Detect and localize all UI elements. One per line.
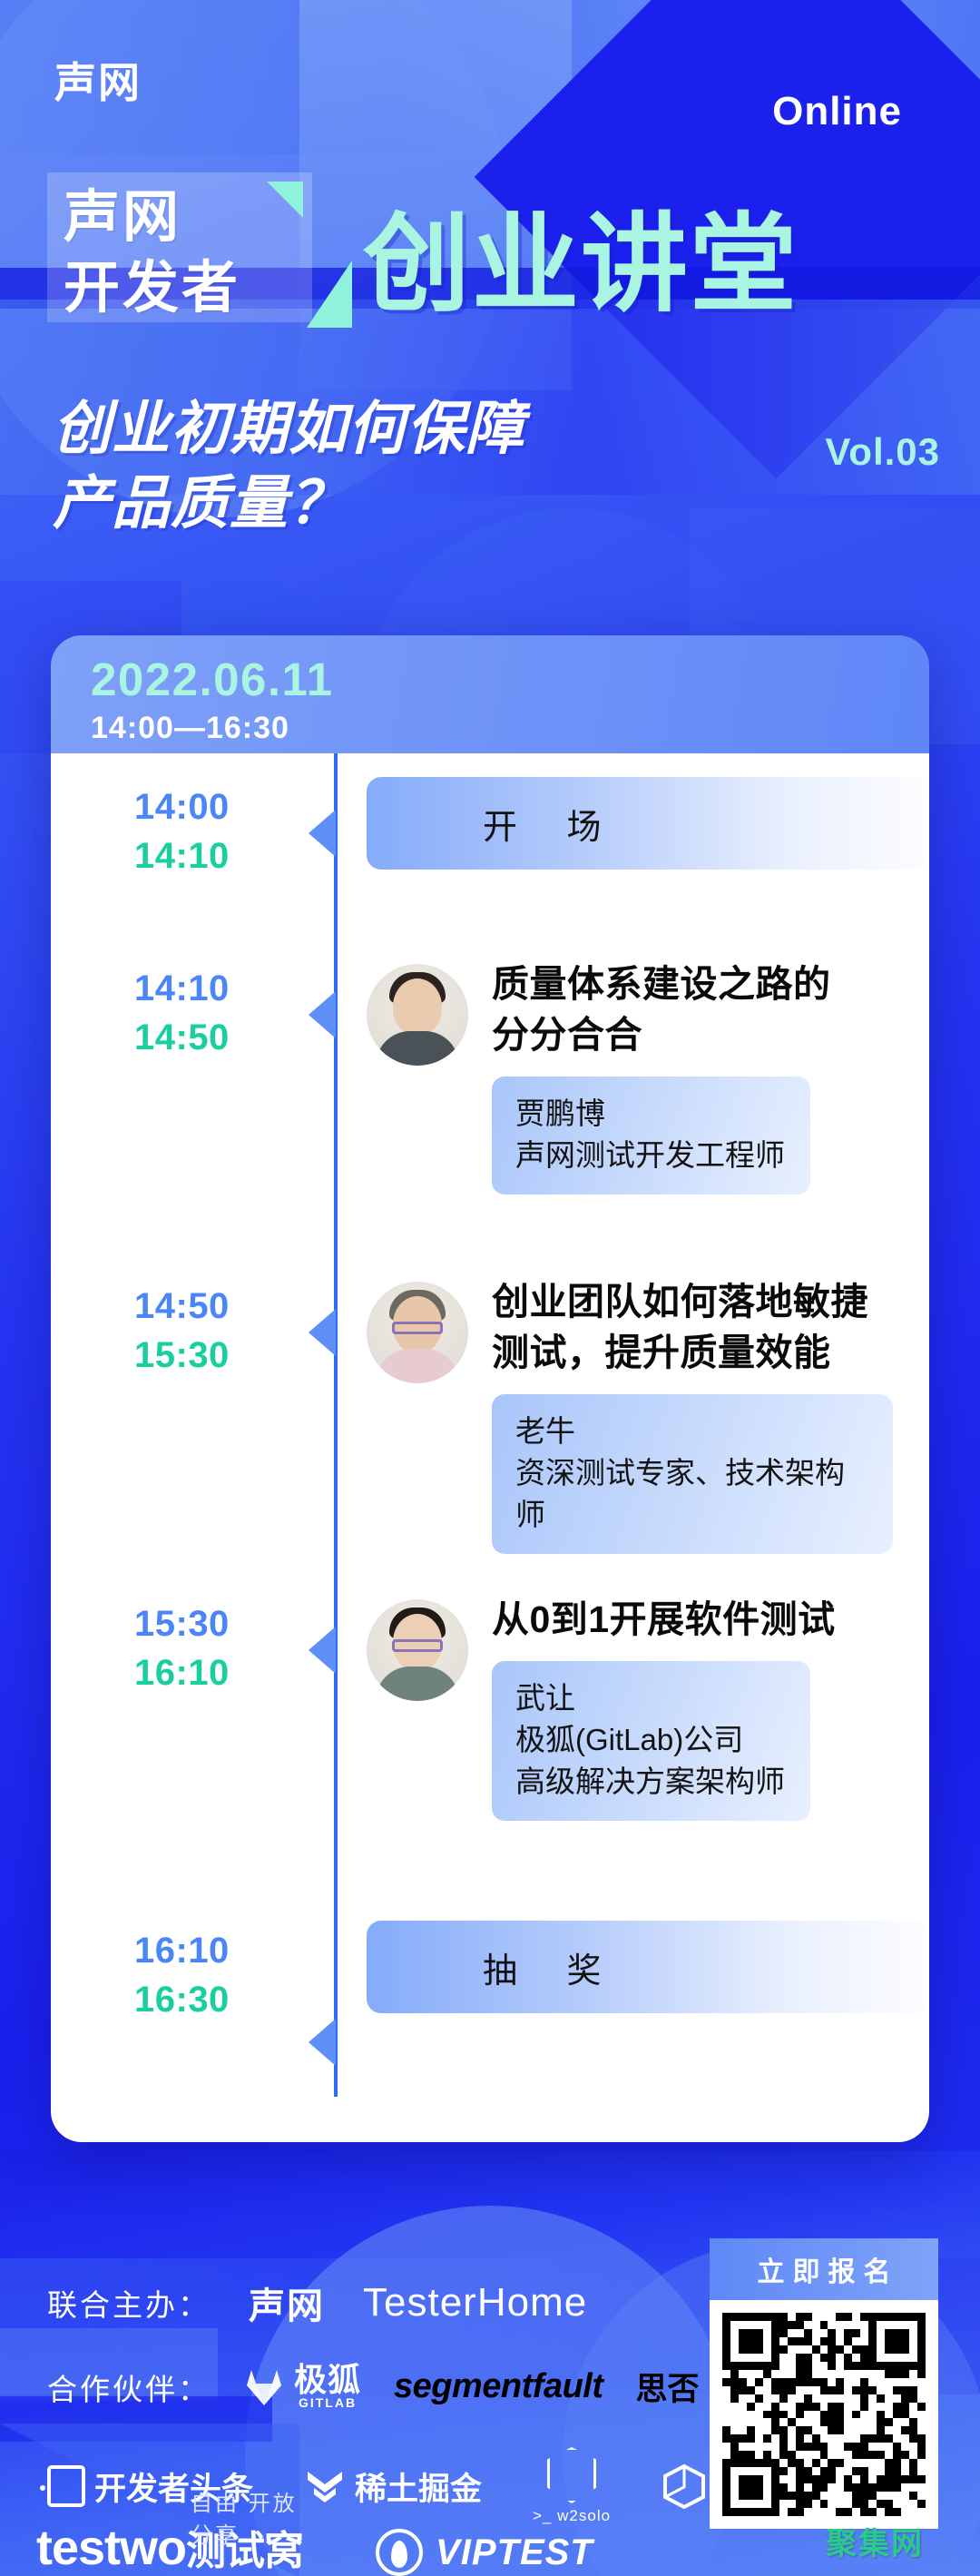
agenda-row: 14:50 15:30 创业团队如何落地敏捷 测试，提升质量效能 (51, 1276, 929, 1594)
subtitle-block: 创业初期如何保障 产品质量？ Vol.03 (53, 392, 969, 541)
speaker-avatar (367, 1282, 468, 1383)
event-time-range: 14:00—16:30 (91, 708, 929, 748)
partner-label: 合作伙伴： (47, 2365, 211, 2409)
agenda-row-content: 创业团队如何落地敏捷 测试，提升质量效能 老牛 资深测试专家、技术架构师 (334, 1276, 929, 1554)
funtester-cube-icon (661, 2463, 707, 2509)
event-date: 2022.06.11 (91, 654, 929, 706)
speaker-name: 武让 (515, 1677, 785, 1719)
subtitle-line-2: 产品质量？ (53, 467, 969, 541)
agenda-row: 14:00 14:10 开 场 (51, 777, 929, 959)
row-end-time: 16:30 (134, 1975, 334, 2024)
row-end-time: 14:50 (134, 1013, 334, 1062)
host-label: 联合主办： (47, 2281, 211, 2325)
session-pill: 抽 奖 (367, 1921, 929, 2013)
partner-name: 极狐 (294, 2361, 361, 2398)
timeline-arrow-icon (309, 2019, 336, 2066)
session-title-line-2: 分分合合 (492, 1009, 893, 1060)
qr-label: 立即报名 (710, 2238, 938, 2300)
media-juejin: 稀土掘金 (304, 2463, 482, 2510)
agora-logo: 声网 (54, 50, 142, 110)
row-start-time: 14:50 (134, 1282, 334, 1331)
title-block: Online 声网 开发者 创业讲堂 (47, 172, 955, 322)
session-pill-label: 开 场 (483, 799, 622, 849)
agenda-row-times: 16:10 16:30 (51, 1921, 334, 2024)
online-badge: Online (772, 89, 902, 134)
agenda-row-content: 从0到1开展软件测试 武让 极狐(GitLab)公司 高级解决方案架构师 (334, 1594, 929, 1821)
partner-gitlab: 极狐 GITLAB (243, 2365, 361, 2410)
volume-badge: Vol.03 (825, 430, 940, 474)
watermark: 聚集网 (826, 2519, 924, 2563)
developer-brand-box: 声网 开发者 (47, 172, 312, 322)
agenda-list: 14:00 14:10 开 场 14:10 14:50 (51, 753, 929, 2142)
timeline-arrow-icon (309, 991, 336, 1038)
agenda-row: 15:30 16:10 从0到1开展软件测试 武让 (51, 1594, 929, 1921)
timeline-arrow-icon (309, 810, 336, 857)
viptest-name: VIPTEST (436, 2532, 593, 2573)
row-start-time: 15:30 (134, 1599, 334, 1648)
speaker-name: 老牛 (515, 1411, 867, 1452)
host-row: 联合主办： 声网 TesterHome (47, 2276, 587, 2329)
session-title-line-1: 从0到1开展软件测试 (492, 1594, 893, 1645)
agenda-row-content: 抽 奖 (334, 1921, 929, 2013)
speaker-box: 贾鹏博 声网测试开发工程师 (492, 1077, 810, 1195)
partner-siyou: 思否 (636, 2364, 700, 2410)
speaker-name: 贾鹏博 (515, 1093, 785, 1135)
speaker-box: 老牛 资深测试专家、技术架构师 (492, 1394, 893, 1554)
agenda-card: 2022.06.11 14:00—16:30 14:00 14:10 开 场 (51, 635, 929, 2142)
row-end-time: 15:30 (134, 1331, 334, 1380)
agenda-row-times: 14:10 14:50 (51, 959, 334, 1062)
row-end-time: 14:10 (134, 831, 334, 880)
session-title-line-1: 质量体系建设之路的 (492, 959, 893, 1009)
speaker-role: 极狐(GitLab)公司 (515, 1719, 785, 1761)
brand-line-1: 声网 (64, 182, 299, 252)
poster-root: 声网 Online 声网 开发者 创业讲堂 创业初期如何保障 产品质量？ Vol… (0, 0, 980, 2576)
host-logo-testerhome: TesterHome (363, 2280, 587, 2325)
speaker-avatar (367, 964, 468, 1066)
row-start-time: 14:10 (134, 964, 334, 1013)
logo-viptest: VIPTEST (376, 2529, 593, 2576)
bottom-logo-row: 自由 开放 分享 testwo 测试窝 VIPTEST (36, 2518, 593, 2576)
agenda-card-header: 2022.06.11 14:00—16:30 (51, 635, 929, 753)
host-logo-agora: 声网 (249, 2276, 325, 2329)
speaker-role: 资深测试专家、技术架构师 (515, 1452, 867, 1536)
agenda-row: 14:10 14:50 质量体系建设之路的 分分合合 贾鹏博 (51, 959, 929, 1276)
agenda-row: 16:10 16:30 抽 奖 (51, 1921, 929, 2102)
testwo-slogan: 自由 开放 分享 (191, 2485, 303, 2549)
partner-sub: GITLAB (294, 2395, 361, 2410)
viptest-flame-icon (376, 2529, 423, 2576)
triangle-accent-icon (267, 182, 303, 218)
row-start-time: 16:10 (134, 1926, 334, 1975)
agenda-row-content: 开 场 (334, 777, 929, 870)
session-title-line-1: 创业团队如何落地敏捷 (492, 1276, 893, 1327)
session-pill: 开 场 (367, 777, 929, 870)
logo-testwo: 自由 开放 分享 testwo 测试窝 (36, 2518, 303, 2576)
qr-code-image (710, 2300, 938, 2529)
row-start-time: 14:00 (134, 782, 334, 831)
agenda-row-content: 质量体系建设之路的 分分合合 贾鹏博 声网测试开发工程师 (334, 959, 929, 1195)
agenda-row-times: 15:30 16:10 (51, 1594, 334, 1697)
gitlab-fox-icon (243, 2367, 285, 2407)
media-w2solo: >_ w2solo (533, 2447, 611, 2525)
juejin-chevron-icon (304, 2468, 346, 2504)
page-title: 创业讲堂 (363, 206, 799, 322)
agenda-row-times: 14:00 14:10 (51, 777, 334, 880)
speaker-role-2: 高级解决方案架构师 (515, 1761, 785, 1803)
agenda-row-times: 14:50 15:30 (51, 1276, 334, 1380)
media-name: 稀土掘金 (355, 2463, 482, 2510)
brand-line-2: 开发者 (64, 252, 299, 323)
testwo-name: testwo (36, 2520, 186, 2576)
w2solo-icon (547, 2447, 596, 2503)
speaker-role: 声网测试开发工程师 (515, 1135, 785, 1176)
registration-qr[interactable]: 立即报名 (710, 2238, 938, 2529)
toutiao-box-icon (47, 2465, 85, 2507)
agora-logo-text: 声网 (54, 50, 142, 110)
footer: 联合主办： 声网 TesterHome 合作伙伴： 极狐 GITLAB segm… (0, 2175, 980, 2576)
speaker-box: 武让 极狐(GitLab)公司 高级解决方案架构师 (492, 1661, 810, 1821)
partner-segmentfault: segmentfault (394, 2367, 603, 2406)
speaker-avatar (367, 1599, 468, 1701)
timeline-arrow-icon (309, 1309, 336, 1356)
session-title-line-2: 测试，提升质量效能 (492, 1327, 893, 1378)
session-pill-label: 抽 奖 (483, 1942, 622, 1992)
timeline-arrow-icon (309, 1627, 336, 1674)
row-end-time: 16:10 (134, 1648, 334, 1697)
triangle-accent-icon (307, 261, 352, 328)
